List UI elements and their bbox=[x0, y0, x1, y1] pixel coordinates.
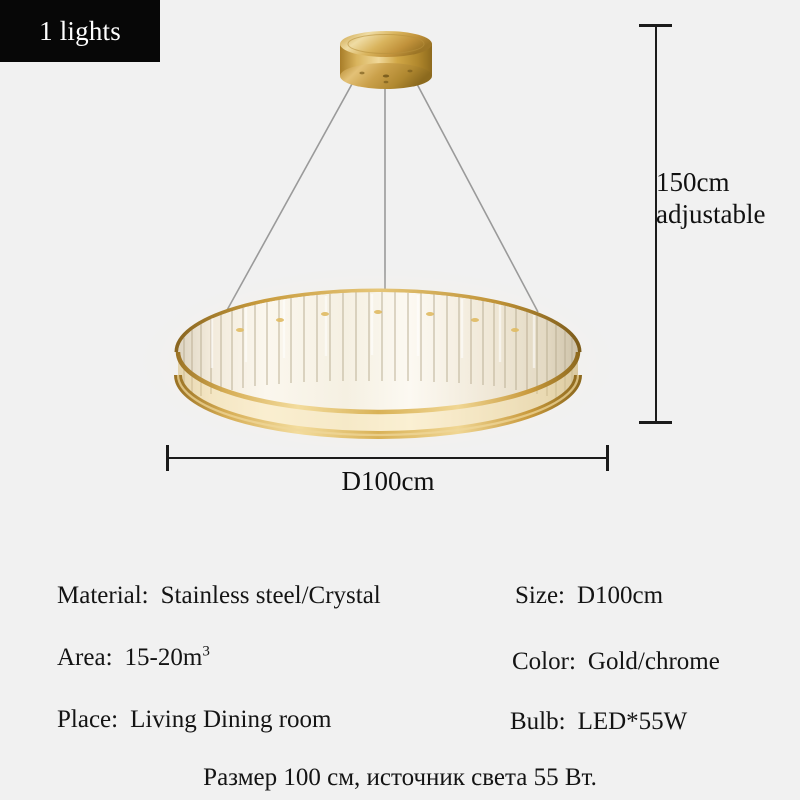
spec-bulb: Bulb:LED*55W bbox=[510, 708, 687, 736]
lights-count-label: 1 lights bbox=[39, 16, 121, 47]
spec-size: Size:D100cm bbox=[515, 582, 663, 610]
spec-color-value: Gold/chrome bbox=[588, 648, 720, 675]
spec-material: Material:Stainless steel/Crystal bbox=[57, 582, 381, 610]
spec-area-key: Area: bbox=[57, 644, 113, 671]
diameter-dimension-label: D100cm bbox=[167, 466, 609, 497]
height-tick-bottom bbox=[639, 421, 672, 424]
spec-size-key: Size: bbox=[515, 582, 565, 609]
spec-bulb-key: Bulb: bbox=[510, 708, 566, 735]
height-dimension-label: 150cm adjustable bbox=[656, 166, 765, 230]
height-value: 150cm bbox=[656, 166, 765, 198]
spec-area: Area:15-20m3 bbox=[57, 644, 210, 672]
spec-material-value: Stainless steel/Crystal bbox=[161, 582, 381, 609]
spec-bulb-value: LED*55W bbox=[578, 708, 688, 735]
product-photo: 150cm adjustable D100cm bbox=[0, 0, 800, 560]
spec-place-key: Place: bbox=[57, 706, 118, 733]
spec-area-exponent: 3 bbox=[202, 644, 210, 660]
spec-color-key: Color: bbox=[512, 648, 576, 675]
height-tick-top bbox=[639, 24, 672, 27]
spec-material-key: Material: bbox=[57, 582, 149, 609]
spec-place: Place:Living Dining room bbox=[57, 706, 331, 734]
spec-size-value: D100cm bbox=[577, 582, 663, 609]
spec-area-value: 15-20m bbox=[125, 644, 203, 671]
specification-block: Material:Stainless steel/Crystal Size:D1… bbox=[0, 568, 800, 800]
crystal-ring bbox=[178, 292, 578, 435]
spec-russian-note: Размер 100 см, источник света 55 Вт. bbox=[0, 764, 800, 792]
diameter-dimension-line bbox=[167, 457, 609, 459]
ceiling-canopy bbox=[340, 31, 432, 89]
lights-count-badge: 1 lights bbox=[0, 0, 160, 62]
product-image-page: 150cm adjustable D100cm 1 lights Materia… bbox=[0, 0, 800, 800]
height-suffix: adjustable bbox=[656, 198, 765, 230]
spec-color: Color:Gold/chrome bbox=[512, 648, 720, 676]
spec-place-value: Living Dining room bbox=[130, 706, 331, 733]
